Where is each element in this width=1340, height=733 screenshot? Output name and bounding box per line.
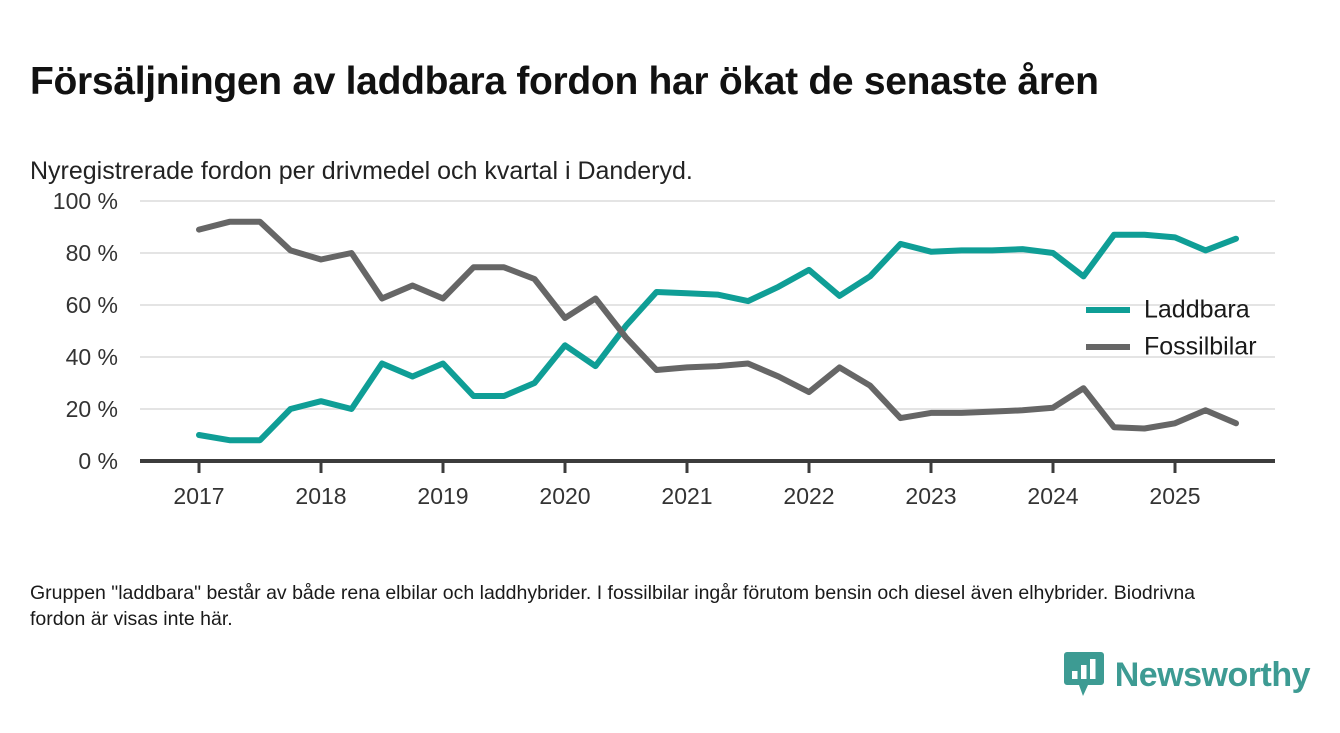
- y-axis-tick-labels: 0 %20 %40 %60 %80 %100 %: [53, 188, 118, 474]
- gridlines-group: [140, 201, 1275, 409]
- x-axis-tick-label: 2023: [905, 483, 956, 509]
- page-title: Försäljningen av laddbara fordon har öka…: [30, 59, 1310, 105]
- y-axis-tick-label: 0 %: [78, 448, 118, 474]
- series-line-laddbara: [199, 235, 1236, 440]
- chart-subtitle: Nyregistrerade fordon per drivmedel och …: [30, 155, 1310, 187]
- x-axis-tick-labels: 201720182019202020212022202320242025: [173, 483, 1200, 509]
- x-axis-tick-label: 2017: [173, 483, 224, 509]
- bar-chart-speech-bubble-icon: [1064, 652, 1104, 698]
- legend-label: Fossilbilar: [1144, 333, 1257, 361]
- y-axis-tick-label: 80 %: [66, 240, 118, 266]
- x-axis-tick-label: 2018: [295, 483, 346, 509]
- x-axis-tick-label: 2022: [783, 483, 834, 509]
- brand-name: Newsworthy: [1115, 656, 1310, 695]
- y-axis-tick-label: 100 %: [53, 188, 118, 214]
- chart-page: Försäljningen av laddbara fordon har öka…: [0, 0, 1340, 733]
- chart-legend: LaddbaraFossilbilar: [1086, 296, 1257, 361]
- brand-logo: Newsworthy: [1064, 650, 1310, 700]
- x-axis-tick-label: 2019: [417, 483, 468, 509]
- chart-footnote: Gruppen "laddbara" består av både rena e…: [30, 580, 1245, 632]
- x-axis-tick-label: 2021: [661, 483, 712, 509]
- legend-label: Laddbara: [1144, 296, 1250, 324]
- y-axis-tick-label: 40 %: [66, 344, 118, 370]
- series-line-fossilbilar: [199, 222, 1236, 429]
- x-axis-tick-label: 2020: [539, 483, 590, 509]
- y-axis-tick-label: 20 %: [66, 396, 118, 422]
- x-axis-group: [140, 461, 1275, 473]
- y-axis-tick-label: 60 %: [66, 292, 118, 318]
- x-axis-tick-label: 2025: [1149, 483, 1200, 509]
- data-series-group: [199, 222, 1236, 440]
- x-axis-tick-label: 2024: [1027, 483, 1078, 509]
